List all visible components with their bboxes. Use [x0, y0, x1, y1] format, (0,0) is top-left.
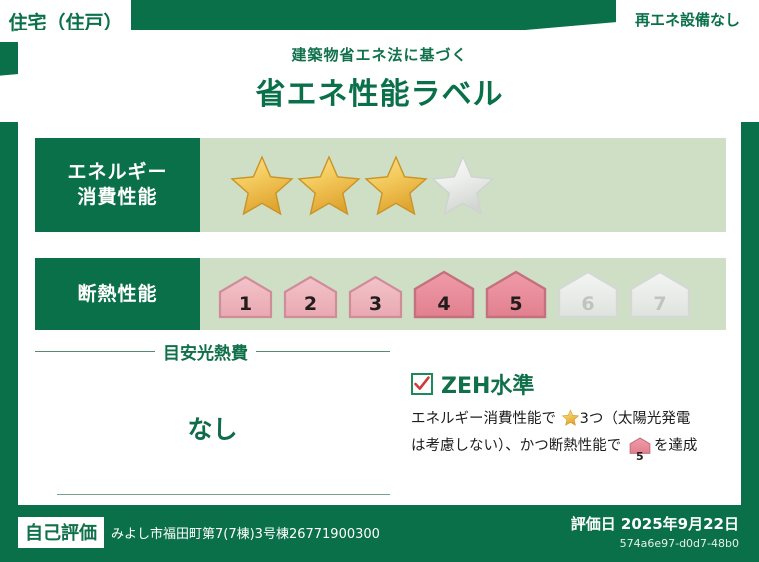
insulation-badge-1: 1	[217, 275, 274, 319]
zeh-title-row: ZEH水準	[411, 368, 731, 400]
zeh-standard-panel: ZEH水準 エネルギー消費性能で 3つ（太陽光発電 は考慮しない）、かつ断熱性能…	[411, 368, 731, 463]
cost-heading-row: 目安光熱費	[35, 335, 390, 364]
zeh-desc-part-1: エネルギー消費性能で	[411, 411, 556, 427]
footer: 自己評価 みよし市福田町第7(7棟)3号棟26771900300 評価日 202…	[0, 505, 759, 562]
insulation-badge-2: 2	[282, 275, 339, 319]
cost-heading-label: 目安光熱費	[163, 339, 248, 364]
insulation-badge-4: 4	[412, 269, 476, 319]
self-evaluation-tag: 自己評価	[18, 517, 104, 548]
insulation-badge-5: 5	[484, 269, 548, 319]
insulation-badge-inline: 5	[629, 437, 651, 463]
energy-label-line-1: エネルギー	[67, 160, 167, 185]
star-icon-empty-4	[431, 154, 495, 216]
zeh-description: エネルギー消費性能で 3つ（太陽光発電 は考慮しない）、かつ断熱性能で 5 を達…	[411, 408, 731, 463]
insulation-badge-6-number: 6	[556, 295, 620, 314]
zeh-desc-part-3: を達成	[654, 438, 698, 454]
energy-performance-label-block: エネルギー 消費性能	[35, 138, 200, 232]
divider-right	[256, 351, 390, 352]
insulation-badge-7: 7	[628, 269, 692, 319]
zeh-desc-part-2: は考慮しない）、かつ断熱性能で	[411, 438, 621, 454]
insulation-badge-3-number: 3	[347, 295, 404, 314]
energy-performance-row: エネルギー 消費性能	[35, 138, 726, 232]
estimated-utility-cost-panel: 目安光熱費 なし	[35, 335, 390, 495]
insulation-performance-row: 断熱性能	[35, 258, 726, 330]
star-icon-filled-1	[230, 154, 294, 216]
energy-performance-label: 住宅（住戸） 再エネ設備なし 建築物省エネ法に基づく 省エネ性能ラベル エネルギ…	[0, 0, 759, 562]
insulation-badge-3: 3	[347, 275, 404, 319]
main-card: 建築物省エネ法に基づく 省エネ性能ラベル エネルギー 消費性能	[18, 30, 741, 505]
property-identifier: みよし市福田町第7(7棟)3号棟26771900300	[111, 523, 380, 542]
star-rating	[200, 154, 495, 216]
zeh-desc-star-count: 3つ（太陽光発電	[580, 411, 691, 427]
insulation-badge-7-number: 7	[628, 295, 692, 314]
footer-left-group: 自己評価 みよし市福田町第7(7棟)3号棟26771900300	[18, 517, 380, 548]
insulation-badge-2-number: 2	[282, 295, 339, 314]
title-subtitle: 建築物省エネ法に基づく	[18, 44, 741, 65]
page-title: 省エネ性能ラベル	[18, 69, 741, 113]
corner-tag-renewable-label: 再エネ設備なし	[635, 9, 740, 30]
title-block: 建築物省エネ法に基づく 省エネ性能ラベル	[18, 44, 741, 113]
check-icon	[413, 375, 431, 393]
insulation-grade-scale: 1 2 3	[200, 269, 692, 319]
evaluation-hash: 574a6e97-d0d7-48b0	[571, 537, 739, 550]
insulation-badge-1-number: 1	[217, 295, 274, 314]
insulation-label: 断熱性能	[77, 282, 157, 307]
insulation-badge-6: 6	[556, 269, 620, 319]
zeh-title: ZEH水準	[441, 368, 534, 400]
cost-value: なし	[35, 410, 390, 446]
cost-bottom-divider	[57, 494, 390, 495]
star-icon-filled-3	[364, 154, 428, 216]
evaluation-date: 評価日 2025年9月22日	[571, 513, 739, 534]
star-icon-inline	[562, 409, 579, 435]
insulation-badge-4-number: 4	[412, 295, 476, 314]
zeh-checkbox	[411, 373, 433, 395]
star-icon-filled-2	[297, 154, 361, 216]
energy-performance-row-body	[200, 138, 726, 232]
insulation-badge-5-number: 5	[484, 295, 548, 314]
insulation-performance-label-block: 断熱性能	[35, 258, 200, 330]
energy-label-line-2: 消費性能	[77, 185, 157, 210]
divider-left	[35, 351, 155, 352]
insulation-performance-row-body: 1 2 3	[200, 258, 726, 330]
insulation-badge-inline-number: 5	[629, 451, 651, 462]
footer-right-group: 評価日 2025年9月22日 574a6e97-d0d7-48b0	[571, 513, 739, 550]
